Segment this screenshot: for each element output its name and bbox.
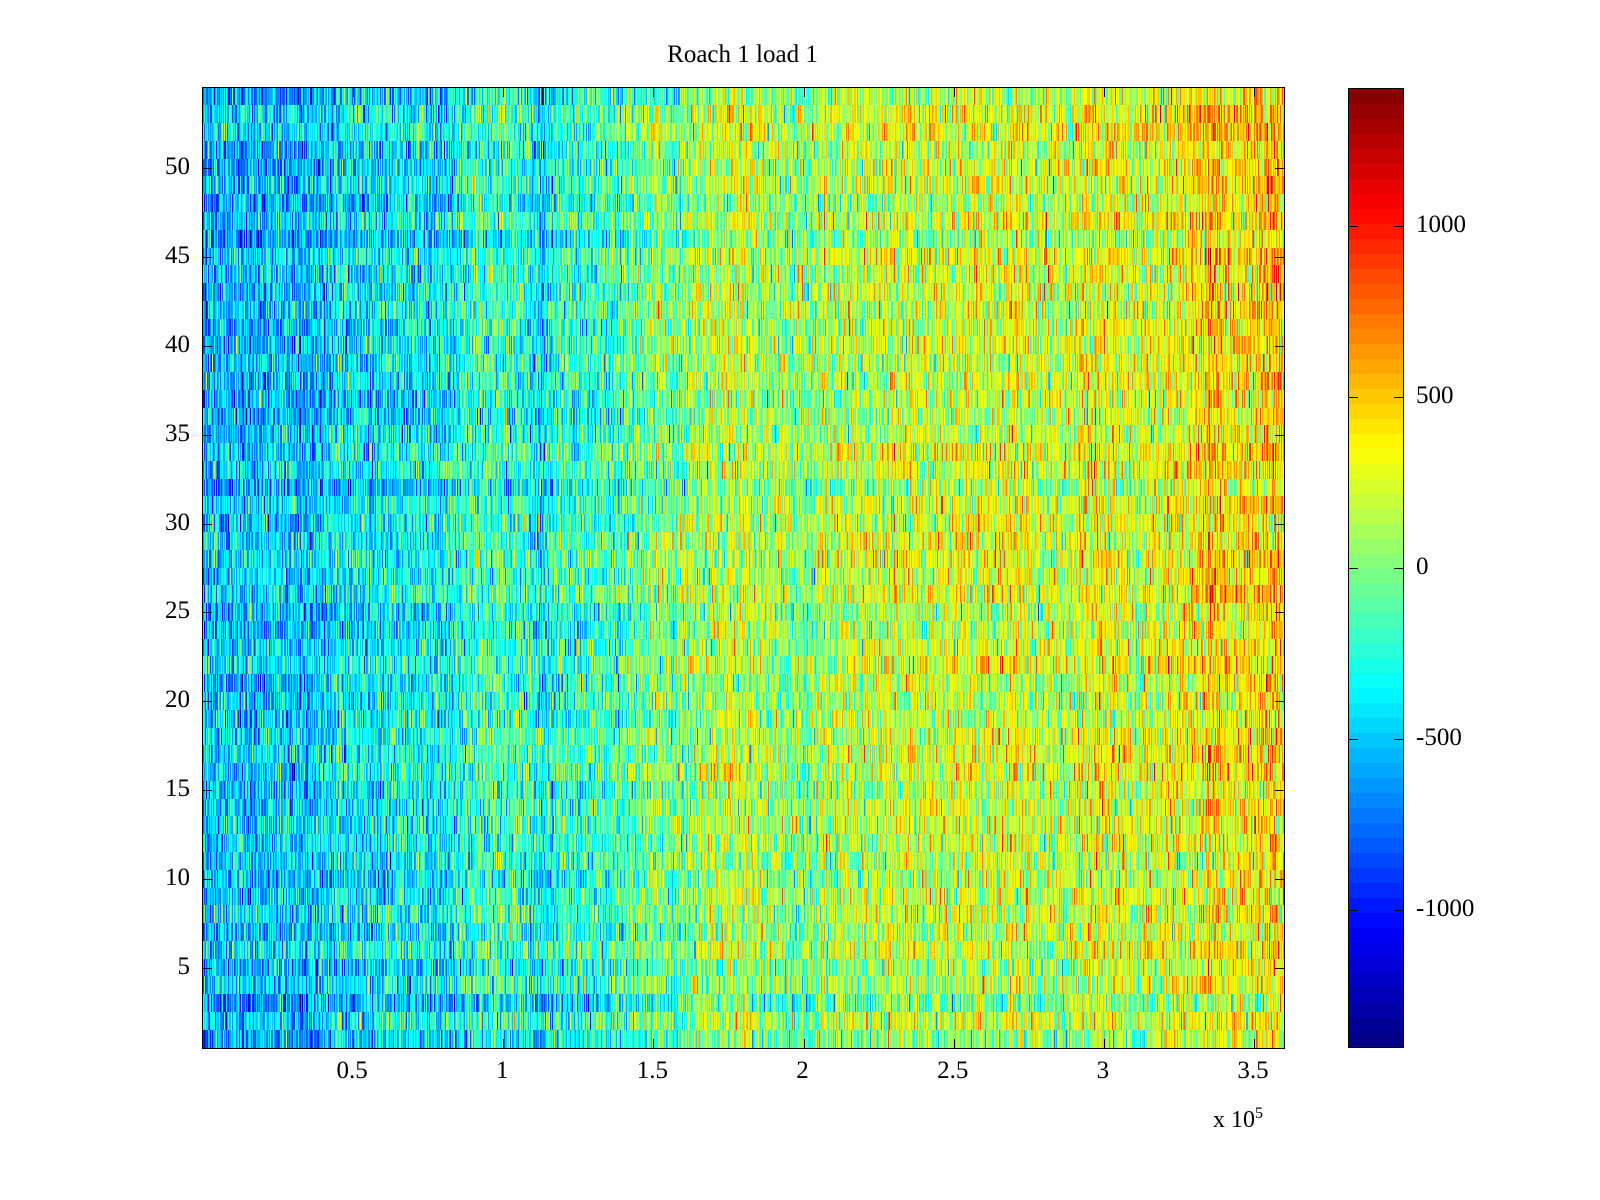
x-axis-tick xyxy=(653,88,654,97)
colorbar-tick xyxy=(1349,397,1358,398)
x-axis-exponent-label: x 105 xyxy=(1213,1105,1263,1134)
x-axis-tick xyxy=(503,88,504,97)
x-axis-tick xyxy=(503,1039,504,1048)
x-axis-tick xyxy=(1254,1039,1255,1048)
x-axis-tick-label: 3.5 xyxy=(1237,1057,1268,1085)
y-axis-tick xyxy=(1275,524,1284,525)
x-axis-tick xyxy=(804,88,805,97)
x-axis-tick xyxy=(1104,88,1105,97)
colorbar-tick xyxy=(1394,226,1403,227)
colorbar-tick xyxy=(1394,910,1403,911)
x-axis-tick-label: 2.5 xyxy=(937,1057,968,1085)
y-axis-tick xyxy=(1275,257,1284,258)
y-axis-tick xyxy=(203,968,212,969)
colorbar-tick xyxy=(1394,397,1403,398)
x-axis-tick-label: 2 xyxy=(796,1057,809,1085)
colorbar-tick-label: -1000 xyxy=(1416,895,1474,923)
y-axis-tick xyxy=(1275,168,1284,169)
y-axis-tick xyxy=(1275,346,1284,347)
y-axis-tick-label: 10 xyxy=(112,864,190,892)
colorbar-tick xyxy=(1394,568,1403,569)
y-axis-tick xyxy=(203,790,212,791)
y-axis-tick xyxy=(203,257,212,258)
y-axis-tick xyxy=(203,435,212,436)
x-axis-tick xyxy=(353,1039,354,1048)
page-title: Roach 1 load 1 xyxy=(202,40,1283,70)
y-axis-tick xyxy=(203,701,212,702)
y-axis-tick xyxy=(203,168,212,169)
x-axis-tick xyxy=(653,1039,654,1048)
y-axis-tick xyxy=(1275,435,1284,436)
colorbar-tick xyxy=(1349,910,1358,911)
colorbar-tick xyxy=(1394,739,1403,740)
colorbar-tick xyxy=(1349,226,1358,227)
y-axis-tick-label: 25 xyxy=(112,597,190,625)
figure-canvas: Roach 1 load 1 0.511.522.533.55101520253… xyxy=(0,0,1600,1200)
x-axis-tick xyxy=(1254,88,1255,97)
colorbar-tick-label: -500 xyxy=(1416,724,1462,752)
colorbar-tick-label: 500 xyxy=(1416,382,1454,410)
y-axis-tick-label: 40 xyxy=(112,331,190,359)
y-axis-tick xyxy=(203,346,212,347)
y-axis-tick-label: 15 xyxy=(112,775,190,803)
y-axis-tick-label: 5 xyxy=(112,953,190,981)
x-axis-tick xyxy=(954,1039,955,1048)
colorbar[interactable] xyxy=(1348,88,1404,1048)
x-axis-tick xyxy=(1104,1039,1105,1048)
y-axis-tick-label: 50 xyxy=(112,153,190,181)
colorbar-tick xyxy=(1349,739,1358,740)
x-exponent-mantissa: x 10 xyxy=(1213,1107,1255,1133)
y-axis-tick xyxy=(203,612,212,613)
y-axis-tick xyxy=(1275,612,1284,613)
colorbar-tick-label: 1000 xyxy=(1416,211,1466,239)
heatmap-axes[interactable] xyxy=(202,87,1285,1049)
y-axis-tick-label: 35 xyxy=(112,420,190,448)
y-axis-tick xyxy=(1275,879,1284,880)
x-axis-tick-label: 1 xyxy=(496,1057,509,1085)
x-axis-tick xyxy=(353,88,354,97)
y-axis-tick xyxy=(1275,701,1284,702)
x-exponent-power: 5 xyxy=(1255,1105,1263,1122)
y-axis-tick-label: 45 xyxy=(112,242,190,270)
x-axis-tick-label: 0.5 xyxy=(337,1057,368,1085)
x-axis-tick-label: 1.5 xyxy=(637,1057,668,1085)
x-axis-tick xyxy=(954,88,955,97)
colorbar-tick xyxy=(1349,568,1358,569)
heatmap-image xyxy=(203,88,1284,1048)
x-axis-tick xyxy=(804,1039,805,1048)
y-axis-tick-label: 30 xyxy=(112,509,190,537)
y-axis-tick xyxy=(203,524,212,525)
y-axis-tick xyxy=(1275,968,1284,969)
y-axis-tick xyxy=(1275,790,1284,791)
y-axis-tick-label: 20 xyxy=(112,686,190,714)
colorbar-tick-label: 0 xyxy=(1416,553,1429,581)
x-axis-tick-label: 3 xyxy=(1097,1057,1110,1085)
y-axis-tick xyxy=(203,879,212,880)
